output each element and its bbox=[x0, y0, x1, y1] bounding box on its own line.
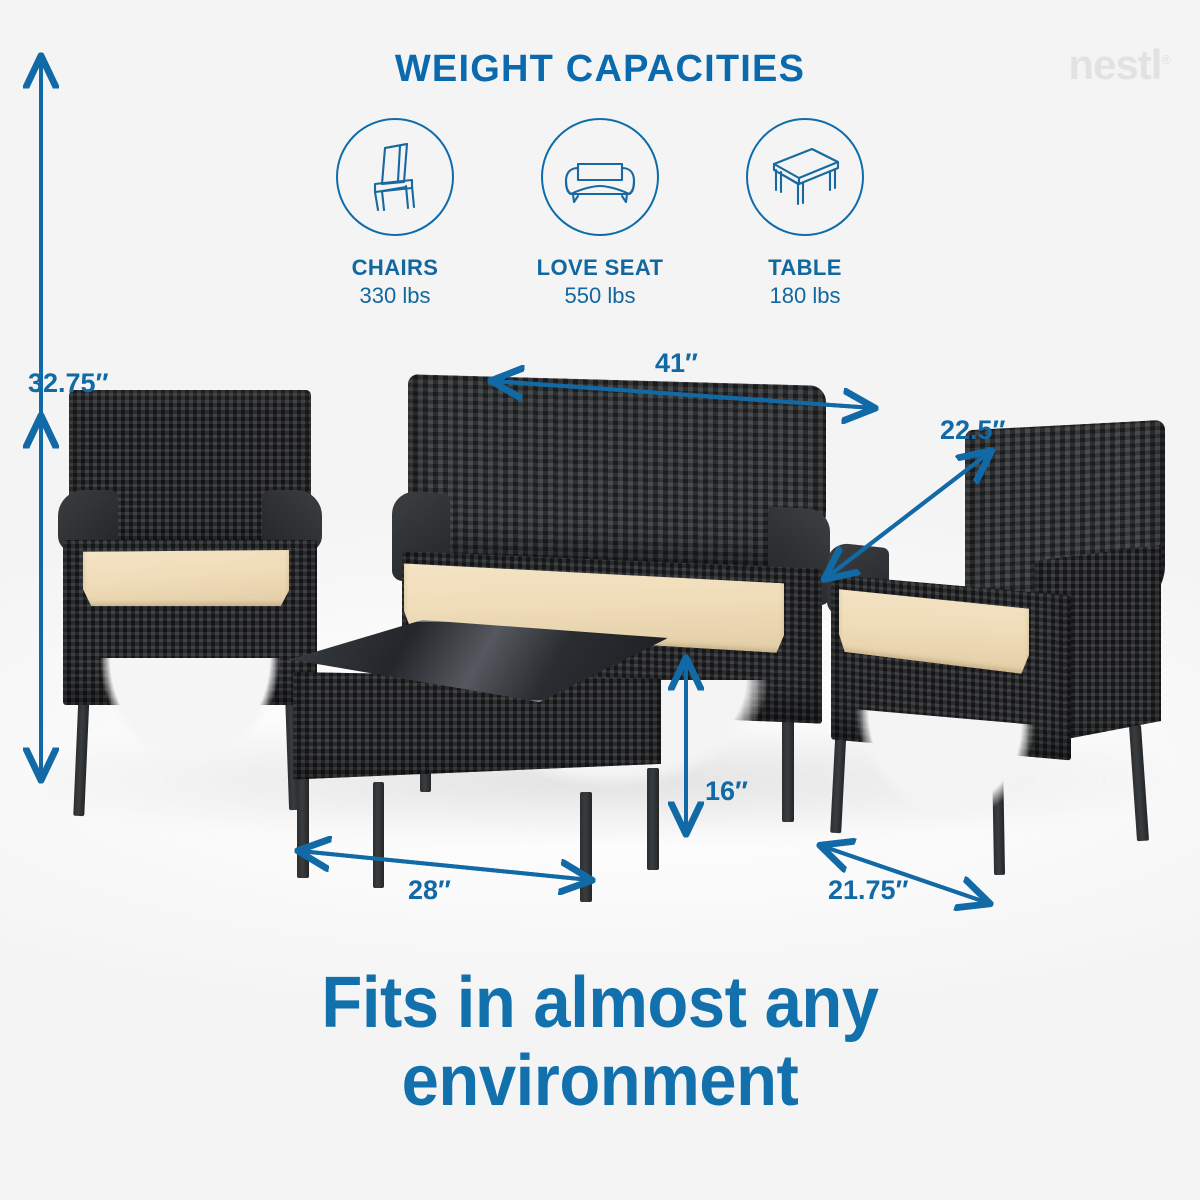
capacity-item-love-seat: LOVE SEAT 550 lbs bbox=[505, 118, 695, 310]
capacity-value-table: 180 lbs bbox=[710, 282, 900, 311]
dimension-label-table-height: 16″ bbox=[705, 776, 748, 807]
dimension-label-chair-depth: 22.5″ bbox=[940, 415, 1005, 446]
table-icon-ring bbox=[746, 118, 864, 236]
chair-icon-ring bbox=[336, 118, 454, 236]
loveseat-icon bbox=[561, 148, 639, 206]
chair-base-arch bbox=[99, 658, 281, 766]
dimension-label-chair-width: 21.75″ bbox=[828, 875, 909, 906]
furniture-scene bbox=[0, 330, 1200, 930]
dimension-label-chair-height: 32.75″ bbox=[28, 368, 109, 399]
right-chair bbox=[825, 425, 1175, 845]
chair-cushion bbox=[83, 550, 289, 606]
table-leg bbox=[373, 782, 384, 888]
page-title: WEIGHT CAPACITIES bbox=[0, 48, 1200, 91]
capacity-label-chairs: CHAIRS bbox=[300, 254, 490, 282]
weight-capacity-group: CHAIRS 330 lbs LOVE SEAT 550 lbs bbox=[300, 118, 920, 328]
brand-logo: nestl® bbox=[1068, 44, 1170, 86]
capacity-label-table: TABLE bbox=[710, 254, 900, 282]
tagline: Fits in almost any environment bbox=[42, 965, 1158, 1121]
loveseat-backrest bbox=[408, 374, 826, 571]
tagline-line-1: Fits in almost any bbox=[42, 965, 1158, 1043]
capacity-item-chairs: CHAIRS 330 lbs bbox=[300, 118, 490, 310]
table-leg bbox=[647, 768, 659, 870]
loveseat-icon-ring bbox=[541, 118, 659, 236]
table-leg bbox=[580, 792, 592, 902]
coffee-table bbox=[285, 620, 685, 880]
chair-leg bbox=[830, 725, 847, 833]
infographic-canvas: WEIGHT CAPACITIES nestl® CHAI bbox=[0, 0, 1200, 1200]
table-leg bbox=[297, 770, 309, 878]
chair-leg bbox=[1129, 725, 1149, 842]
brand-name: nestl bbox=[1068, 41, 1161, 88]
capacity-item-table: TABLE 180 lbs bbox=[710, 118, 900, 310]
capacity-value-love-seat: 550 lbs bbox=[505, 282, 695, 311]
chair-base-arch bbox=[855, 709, 1035, 829]
table-icon bbox=[768, 144, 842, 210]
capacity-value-chairs: 330 lbs bbox=[300, 282, 490, 311]
tagline-line-2: environment bbox=[42, 1043, 1158, 1121]
capacity-label-love-seat: LOVE SEAT bbox=[505, 254, 695, 282]
registered-trademark-icon: ® bbox=[1161, 52, 1170, 67]
chair-icon bbox=[360, 140, 430, 214]
dimension-label-table-width: 28″ bbox=[408, 875, 451, 906]
dimension-label-loveseat-width: 41″ bbox=[655, 348, 698, 379]
